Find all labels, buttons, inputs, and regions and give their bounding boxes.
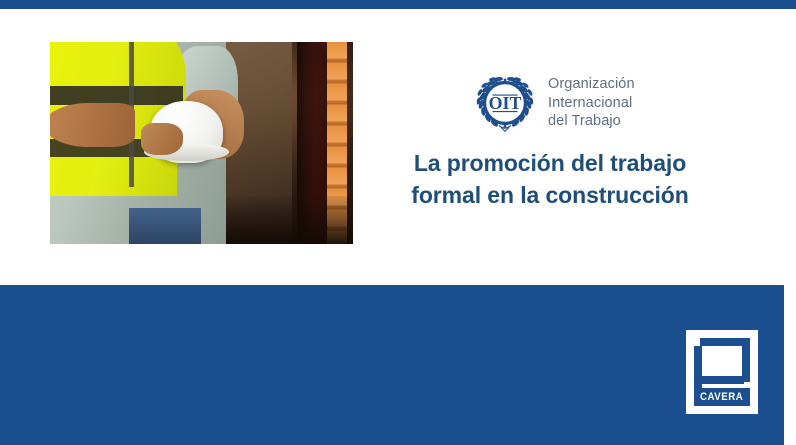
bottom-accent-band [0, 285, 784, 445]
ilo-name-line-1: Organización [548, 75, 635, 94]
cavera-frame-bottom-bar [700, 376, 744, 384]
svg-text:OIT: OIT [489, 93, 522, 113]
ilo-organisation-name: Organización Internacional del Trabajo [548, 75, 635, 131]
ilo-name-line-2: Internacional [548, 94, 635, 113]
ilo-name-line-3: del Trabajo [548, 112, 635, 131]
cavera-frame-left-bar [694, 346, 702, 390]
photo-worker-jeans [129, 208, 202, 244]
cavera-logo: CAVERA [686, 330, 758, 414]
cavera-frame-top-bar [700, 338, 744, 346]
photo-worker-left-arm [50, 103, 135, 147]
photo-vest-stripe-upper [50, 86, 183, 104]
photo-worker-hand [141, 123, 183, 155]
cavera-logo-mark: CAVERA [692, 336, 752, 408]
photo-layers [50, 42, 353, 244]
construction-worker-photo [50, 42, 353, 244]
top-accent-band [0, 0, 796, 9]
cavera-wordmark-bar: CAVERA [694, 388, 750, 406]
ilo-logo-lockup: OIT Organización Internacional del Traba… [472, 70, 635, 136]
cavera-wordmark: CAVERA [700, 391, 743, 403]
slide-title: La promoción del trabajo formal en la co… [380, 148, 720, 211]
slide-root: OIT Organización Internacional del Traba… [0, 0, 796, 445]
slide-title-line-2: formal en la construcción [380, 180, 720, 212]
ilo-oit-emblem-icon: OIT [472, 70, 538, 136]
slide-title-line-1: La promoción del trabajo [414, 150, 686, 176]
